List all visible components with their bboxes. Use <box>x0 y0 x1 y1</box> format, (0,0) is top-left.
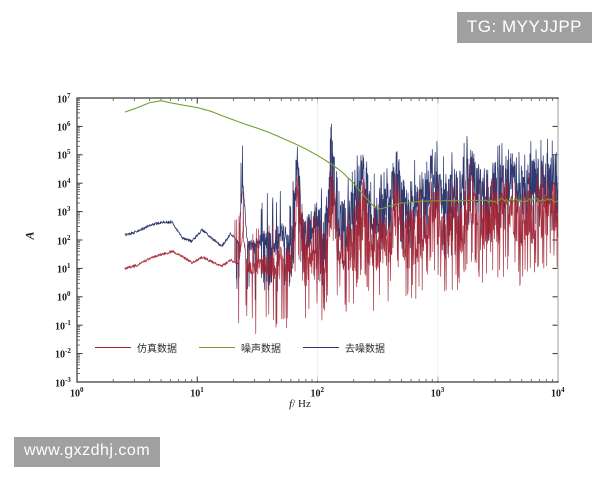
chart-svg <box>0 0 600 430</box>
legend-item-noise[interactable]: 噪声数据 <box>199 340 281 355</box>
watermark-bottom-left: www.gxzdhj.com <box>14 437 160 467</box>
x-axis-title: f/ Hz <box>0 398 600 410</box>
y-tick-label--1: 10-1 <box>55 319 71 332</box>
x-tick-label-1: 101 <box>190 386 204 399</box>
y-tick-label-4: 104 <box>57 177 71 190</box>
x-tick-label-0: 100 <box>70 386 84 399</box>
x-tick-label-4: 104 <box>551 386 565 399</box>
y-tick-label-0: 100 <box>57 290 71 303</box>
legend-swatch-noise <box>199 347 235 348</box>
y-tick-label-3: 103 <box>57 205 71 218</box>
legend-label-noise: 噪声数据 <box>241 340 281 355</box>
legend-item-simulation[interactable]: 仿真数据 <box>95 340 177 355</box>
legend-swatch-denoised <box>303 347 339 348</box>
legend-item-denoised[interactable]: 去噪数据 <box>303 340 385 355</box>
watermark-top-right: TG: MYYJJPP <box>457 12 592 43</box>
y-tick-label--3: 10-3 <box>55 376 71 389</box>
y-tick-label--2: 10-2 <box>55 347 71 360</box>
legend-label-denoised: 去噪数据 <box>345 340 385 355</box>
legend-label-simulation: 仿真数据 <box>137 340 177 355</box>
y-tick-label-1: 101 <box>57 262 71 275</box>
x-axis-title-unit: / Hz <box>292 398 311 410</box>
y-axis-title: A <box>23 231 38 239</box>
x-tick-label-2: 102 <box>311 386 325 399</box>
spectrum-chart-figure: A f/ Hz 仿真数据 噪声数据 去噪数据 10010110210310410… <box>0 0 600 430</box>
y-tick-label-7: 107 <box>57 92 71 105</box>
y-tick-label-2: 102 <box>57 234 71 247</box>
x-tick-label-3: 103 <box>431 386 445 399</box>
legend-swatch-simulation <box>95 347 131 348</box>
y-tick-label-5: 105 <box>57 148 71 161</box>
screenshot-root: A f/ Hz 仿真数据 噪声数据 去噪数据 10010110210310410… <box>0 0 600 480</box>
chart-legend: 仿真数据 噪声数据 去噪数据 <box>95 340 385 355</box>
y-tick-label-6: 106 <box>57 120 71 133</box>
